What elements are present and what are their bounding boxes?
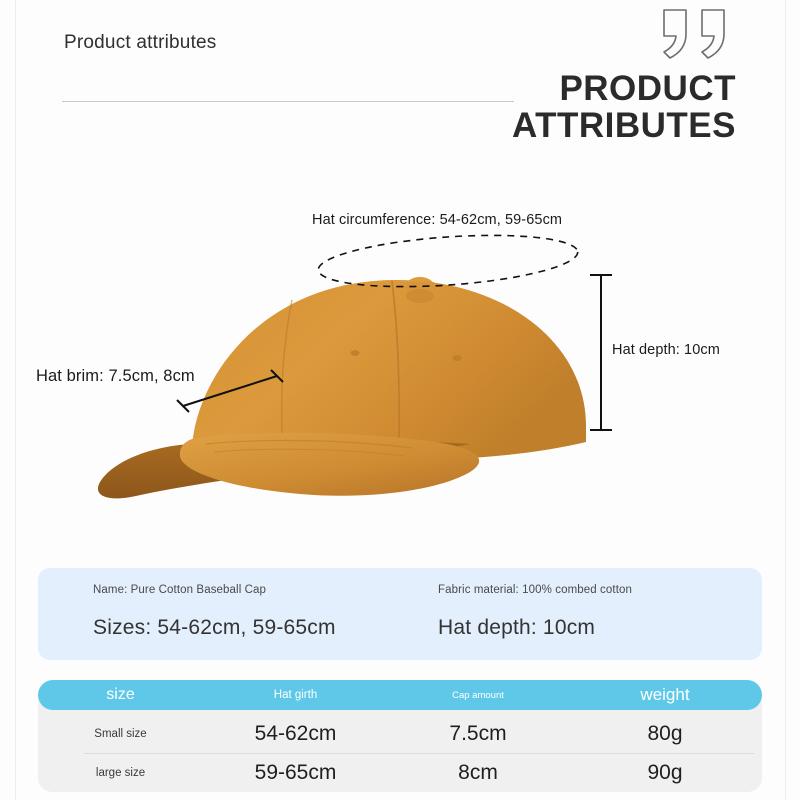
info-depth: Hat depth: 10cm	[438, 616, 595, 640]
annotation-brim: Hat brim: 7.5cm, 8cm	[36, 367, 195, 386]
cell-cap-amount: 8cm	[388, 761, 568, 785]
table-row: large size 59-65cm 8cm 90g	[38, 753, 762, 792]
column-header-weight: weight	[568, 685, 762, 705]
column-header-size: size	[38, 686, 203, 704]
quotation-mark-icon	[660, 8, 738, 60]
cell-weight: 90g	[568, 761, 762, 785]
page-title-line1: PRODUCT	[559, 69, 736, 108]
info-fabric: Fabric material: 100% combed cotton	[438, 584, 632, 596]
cell-size: Small size	[38, 728, 203, 740]
spec-table-header-row: size Hat girth Cap amount weight	[38, 680, 762, 710]
spec-table: size Hat girth Cap amount weight Small s…	[38, 684, 762, 792]
cell-hat-girth: 54-62cm	[203, 722, 388, 746]
table-row: Small size 54-62cm 7.5cm 80g	[38, 714, 762, 753]
cap-brim	[98, 433, 479, 498]
cell-weight: 80g	[568, 722, 762, 746]
cell-size: large size	[38, 767, 203, 779]
column-header-cap-amount: Cap amount	[388, 690, 568, 701]
info-row-top: Name: Pure Cotton Baseball Cap Fabric ma…	[93, 584, 632, 596]
cap-diagram: Hat circumference: 54-62cm, 59-65cm Hat …	[0, 190, 800, 520]
page-subtitle: Product attributes	[64, 32, 217, 54]
page-title: PRODUCT ATTRIBUTES	[316, 70, 736, 144]
page-title-line2: ATTRIBUTES	[316, 107, 736, 144]
cap-crown	[192, 277, 586, 460]
product-attributes-page: Product attributes PRODUCT ATTRIBUTES	[0, 0, 800, 800]
cell-hat-girth: 59-65cm	[203, 761, 388, 785]
info-panel: Name: Pure Cotton Baseball Cap Fabric ma…	[38, 568, 762, 660]
annotation-depth: Hat depth: 10cm	[612, 342, 720, 358]
info-row-bottom: Sizes: 54-62cm, 59-65cm Hat depth: 10cm	[93, 616, 595, 640]
column-header-hat-girth: Hat girth	[203, 689, 388, 701]
cell-cap-amount: 7.5cm	[388, 722, 568, 746]
depth-measure-line	[590, 275, 612, 430]
annotation-circumference: Hat circumference: 54-62cm, 59-65cm	[312, 212, 562, 228]
info-name: Name: Pure Cotton Baseball Cap	[93, 584, 438, 596]
info-sizes: Sizes: 54-62cm, 59-65cm	[93, 616, 438, 640]
